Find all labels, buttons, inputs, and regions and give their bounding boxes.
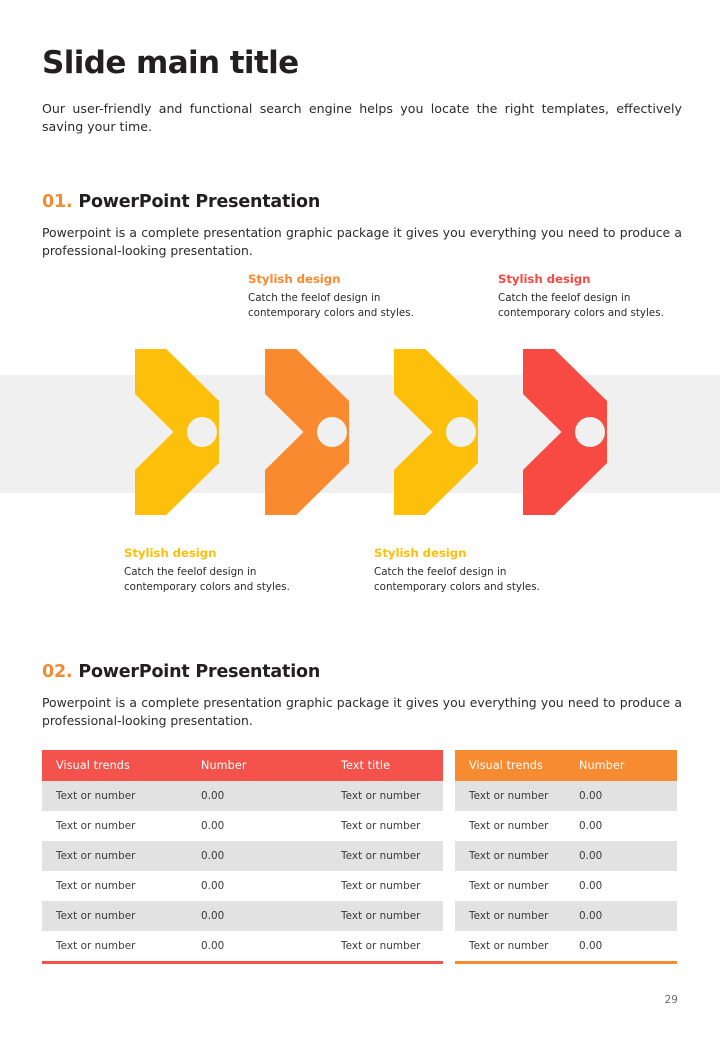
- process-chevron-4[interactable]: [503, 336, 627, 528]
- table-left-header-cell: Visual trends: [42, 750, 187, 781]
- table-header-row: Visual trends Number: [455, 750, 677, 781]
- table-cell: Text or number: [455, 871, 565, 901]
- table-left-header: Visual trends Number Text title: [42, 750, 443, 781]
- table-cell: Text or number: [327, 931, 443, 963]
- table-cell: 0.00: [565, 931, 677, 963]
- table-row: Text or number0.00: [455, 811, 677, 841]
- table-cell: Text or number: [42, 841, 187, 871]
- table-row: Text or number0.00: [455, 931, 677, 963]
- process-label-4-title: Stylish design: [498, 272, 698, 286]
- table-cell: Text or number: [455, 901, 565, 931]
- table-left-body: Text or number0.00Text or numberText or …: [42, 781, 443, 963]
- section-02-heading: 02. PowerPoint Presentation: [42, 662, 320, 682]
- table-cell: Text or number: [42, 871, 187, 901]
- chevron-right-icon: [115, 336, 239, 528]
- section-02-body: Powerpoint is a complete presentation gr…: [42, 694, 682, 730]
- section-01-number: 01.: [42, 192, 72, 212]
- table-cell: Text or number: [42, 781, 187, 811]
- section-01-heading: 01. PowerPoint Presentation: [42, 192, 320, 212]
- table-cell: 0.00: [565, 781, 677, 811]
- table-row: Text or number0.00: [455, 781, 677, 811]
- table-cell: 0.00: [187, 901, 327, 931]
- table-cell: 0.00: [187, 931, 327, 963]
- data-table-left: Visual trends Number Text title Text or …: [42, 750, 443, 964]
- process-label-1: Stylish design Catch the feelof design i…: [124, 546, 324, 595]
- table-right-header-cell: Visual trends: [455, 750, 565, 781]
- table-row: Text or number0.00Text or number: [42, 931, 443, 963]
- table-row: Text or number0.00: [455, 871, 677, 901]
- table-cell: Text or number: [455, 811, 565, 841]
- table-cell: 0.00: [187, 841, 327, 871]
- table-cell: Text or number: [42, 931, 187, 963]
- table-row: Text or number0.00Text or number: [42, 781, 443, 811]
- data-table-right: Visual trends Number Text or number0.00T…: [455, 750, 677, 964]
- table-cell: Text or number: [327, 871, 443, 901]
- process-label-3-title: Stylish design: [374, 546, 574, 560]
- process-label-1-desc: Catch the feelof design in contemporary …: [124, 565, 324, 595]
- table-cell: 0.00: [187, 811, 327, 841]
- table-right-body: Text or number0.00Text or number0.00Text…: [455, 781, 677, 963]
- process-label-3-desc: Catch the feelof design in contemporary …: [374, 565, 574, 595]
- table-row: Text or number0.00: [455, 841, 677, 871]
- process-chevron-1[interactable]: [115, 336, 239, 528]
- table-row: Text or number0.00Text or number: [42, 841, 443, 871]
- table-row: Text or number0.00Text or number: [42, 901, 443, 931]
- process-label-2-desc: Catch the feelof design in contemporary …: [248, 291, 448, 321]
- process-diagram: Stylish design Catch the feelof design i…: [0, 260, 720, 620]
- table-cell: 0.00: [565, 811, 677, 841]
- process-chevron-2[interactable]: [245, 336, 369, 528]
- process-label-3: Stylish design Catch the feelof design i…: [374, 546, 574, 595]
- table-row: Text or number0.00Text or number: [42, 811, 443, 841]
- page-subtitle: Our user-friendly and functional search …: [42, 100, 682, 137]
- chevron-right-icon: [374, 336, 498, 528]
- section-02-number: 02.: [42, 662, 72, 682]
- process-label-4: Stylish design Catch the feelof design i…: [498, 272, 698, 321]
- process-label-1-title: Stylish design: [124, 546, 324, 560]
- chevron-right-icon: [503, 336, 627, 528]
- page-title: Slide main title: [42, 46, 299, 80]
- table-row: Text or number0.00Text or number: [42, 871, 443, 901]
- table-right-header: Visual trends Number: [455, 750, 677, 781]
- process-label-4-desc: Catch the feelof design in contemporary …: [498, 291, 698, 321]
- table-cell: Text or number: [455, 931, 565, 963]
- table-cell: Text or number: [327, 901, 443, 931]
- table-cell: 0.00: [565, 841, 677, 871]
- table-row: Text or number0.00: [455, 901, 677, 931]
- process-label-2-title: Stylish design: [248, 272, 448, 286]
- table-cell: Text or number: [327, 841, 443, 871]
- table-left-header-cell: Number: [187, 750, 327, 781]
- section-01-title: PowerPoint Presentation: [78, 192, 320, 212]
- table-cell: Text or number: [455, 781, 565, 811]
- table-cell: Text or number: [327, 811, 443, 841]
- process-chevron-3[interactable]: [374, 336, 498, 528]
- chevron-right-icon: [245, 336, 369, 528]
- table-cell: 0.00: [187, 781, 327, 811]
- page-number: 29: [0, 994, 678, 1006]
- table-cell: 0.00: [565, 901, 677, 931]
- section-02-title: PowerPoint Presentation: [78, 662, 320, 682]
- table-cell: Text or number: [327, 781, 443, 811]
- table-cell: 0.00: [565, 871, 677, 901]
- table-cell: Text or number: [455, 841, 565, 871]
- table-left-header-cell: Text title: [327, 750, 443, 781]
- table-right-header-cell: Number: [565, 750, 677, 781]
- table-cell: Text or number: [42, 811, 187, 841]
- table-header-row: Visual trends Number Text title: [42, 750, 443, 781]
- section-01-body: Powerpoint is a complete presentation gr…: [42, 224, 682, 260]
- table-cell: 0.00: [187, 871, 327, 901]
- table-cell: Text or number: [42, 901, 187, 931]
- process-label-2: Stylish design Catch the feelof design i…: [248, 272, 448, 321]
